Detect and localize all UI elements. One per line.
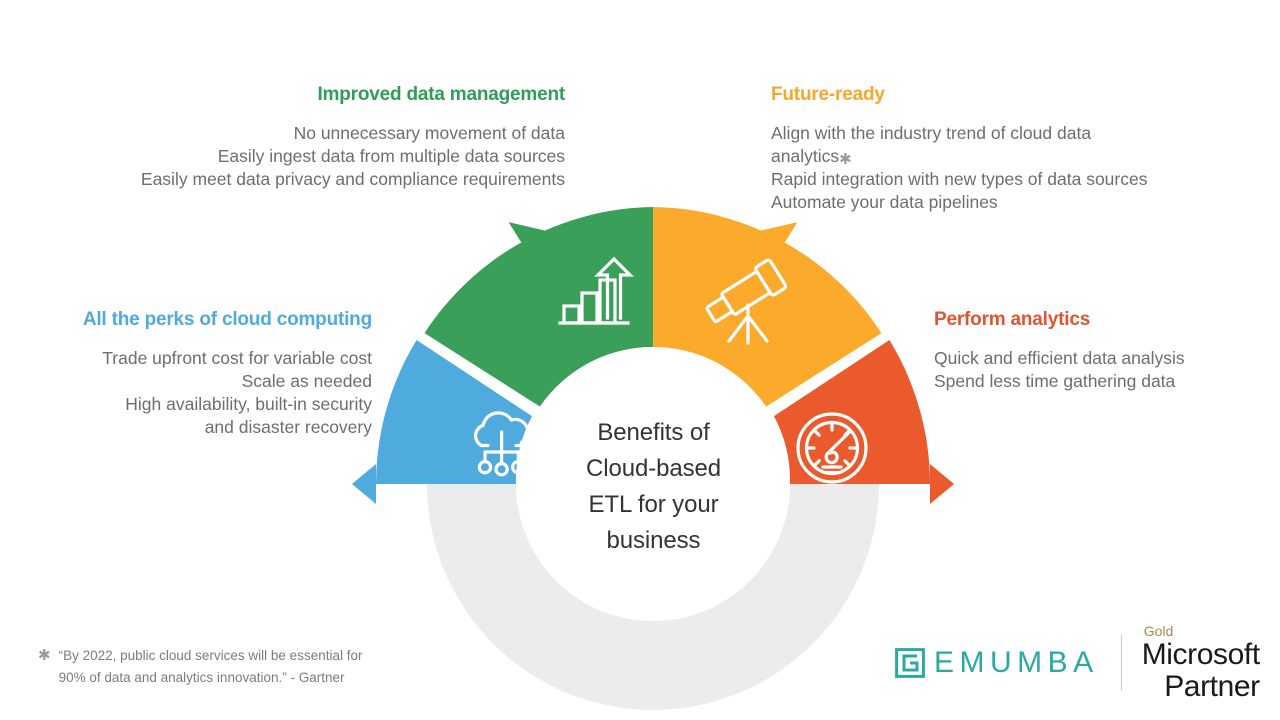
microsoft-partner-logo: Gold Microsoft Partner bbox=[1142, 624, 1260, 703]
footnote-line: 90% of data and analytics innovation.” -… bbox=[59, 667, 363, 689]
donut-center-disc bbox=[516, 347, 790, 621]
microsoft-wordmark: Microsoft bbox=[1142, 639, 1260, 671]
callout-heading-data-management: Improved data management bbox=[20, 84, 565, 107]
callout-heading-perform-analytics: Perform analytics bbox=[934, 309, 1264, 332]
footnote-text: “By 2022, public cloud services will be … bbox=[59, 645, 363, 690]
callout-line: Rapid integration with new types of data… bbox=[771, 168, 1241, 191]
callout-line: Trade upfront cost for variable cost bbox=[20, 347, 372, 370]
semicircle-donut-diagram bbox=[362, 200, 944, 610]
footnote-star-icon: ✱ bbox=[38, 645, 51, 690]
callout-line: Quick and efficient data analysis bbox=[934, 347, 1264, 370]
speedometer-icon bbox=[798, 414, 866, 482]
partner-wordmark: Partner bbox=[1142, 671, 1260, 703]
callout-line-text: Align with the industry trend of cloud d… bbox=[771, 123, 1091, 143]
callout-line: Scale as needed bbox=[20, 370, 372, 393]
callout-line: Easily meet data privacy and compliance … bbox=[20, 168, 565, 191]
callout-future-ready: Future-ready Align with the industry tre… bbox=[771, 84, 1241, 214]
callout-line: analytics✱ bbox=[771, 145, 1241, 168]
callout-heading-future-ready: Future-ready bbox=[771, 84, 1241, 107]
callout-line: and disaster recovery bbox=[20, 416, 372, 439]
logo-bar: EMUMBA Gold Microsoft Partner bbox=[895, 628, 1260, 698]
footnote-marker-icon: ✱ bbox=[839, 151, 852, 168]
callout-line: High availability, built-in security bbox=[20, 393, 372, 416]
emumba-mark-icon bbox=[895, 648, 925, 678]
infographic-canvas: Improved data management No unnecessary … bbox=[0, 0, 1280, 720]
emumba-wordmark: EMUMBA bbox=[934, 646, 1099, 680]
emumba-logo: EMUMBA bbox=[895, 646, 1099, 680]
footnote-line: “By 2022, public cloud services will be … bbox=[59, 645, 363, 667]
callout-line: Easily ingest data from multiple data so… bbox=[20, 145, 565, 168]
callout-heading-cloud-computing: All the perks of cloud computing bbox=[20, 309, 372, 332]
callout-line-text: analytics bbox=[771, 146, 839, 166]
callout-perform-analytics: Perform analytics Quick and efficient da… bbox=[934, 309, 1264, 393]
microsoft-tier-label: Gold bbox=[1144, 624, 1260, 638]
callout-cloud-computing: All the perks of cloud computing Trade u… bbox=[20, 309, 372, 439]
footnote: ✱ “By 2022, public cloud services will b… bbox=[38, 645, 458, 690]
callout-line: Align with the industry trend of cloud d… bbox=[771, 122, 1241, 145]
callout-line: Spend less time gathering data bbox=[934, 370, 1264, 393]
callout-data-management: Improved data management No unnecessary … bbox=[20, 84, 565, 191]
logo-divider bbox=[1121, 635, 1122, 691]
callout-line: No unnecessary movement of data bbox=[20, 122, 565, 145]
